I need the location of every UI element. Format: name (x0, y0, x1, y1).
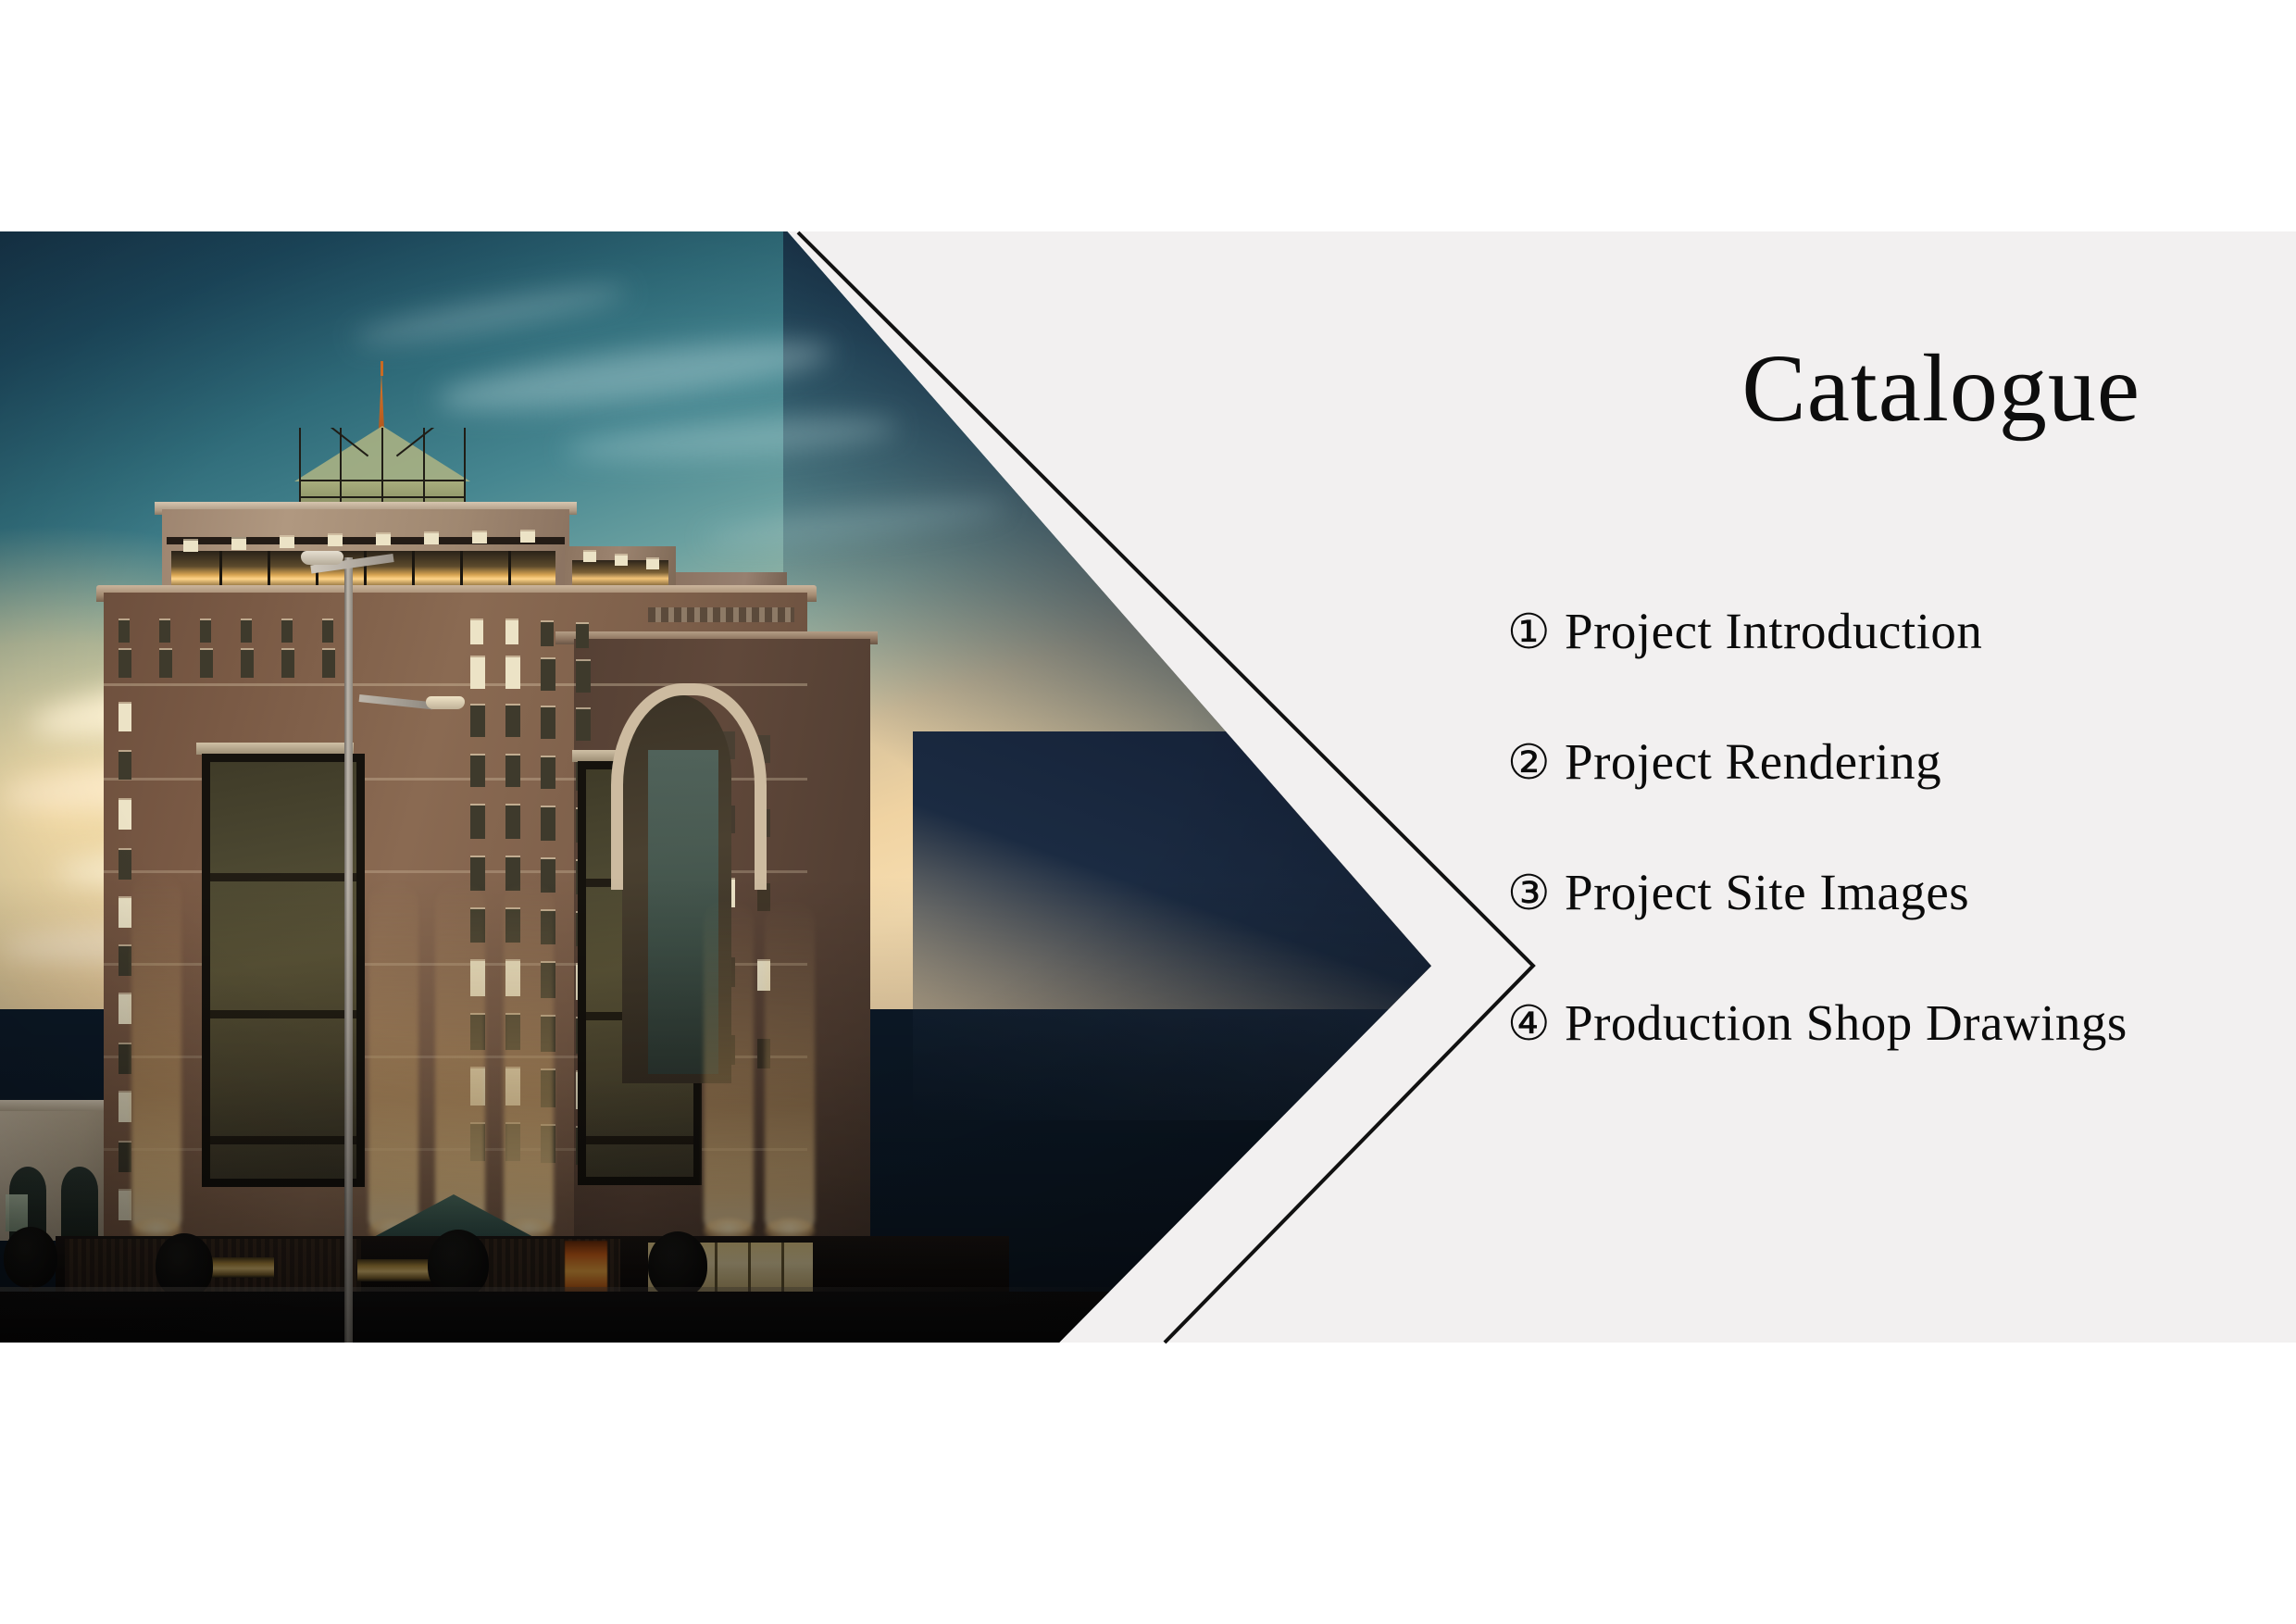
item-number-3: ③ (1507, 866, 1565, 921)
curtain-wall-bay-left (202, 754, 365, 1187)
slide-canvas: GRAND OTEL (0, 0, 2296, 1624)
catalogue-item-3[interactable]: ③ Project Site Images (1507, 863, 2276, 993)
item-label-2: Project Rendering (1565, 732, 1941, 791)
street-lamp-head-secondary (426, 696, 465, 709)
entrance-arch-ring (611, 683, 767, 890)
item-number-1: ① (1507, 605, 1565, 660)
upper-level-band (167, 537, 565, 544)
adjacent-arch (61, 1167, 98, 1241)
item-number-4: ④ (1507, 996, 1565, 1052)
catalogue-item-2[interactable]: ② Project Rendering (1507, 732, 2276, 863)
item-label-1: Project Introduction (1565, 602, 1982, 660)
street-lamp-head (301, 551, 343, 565)
catalogue-list: ① Project Introduction ② Project Renderi… (1507, 602, 2276, 1124)
catalogue-item-1[interactable]: ① Project Introduction (1507, 602, 2276, 732)
dome-mullion-grid (299, 428, 466, 511)
street-tree (4, 1227, 57, 1288)
item-label-4: Production Shop Drawings (1565, 993, 2128, 1052)
item-number-2: ② (1507, 735, 1565, 791)
adjacent-lit-window (6, 1194, 28, 1231)
spire-tip (381, 361, 383, 376)
catalogue-item-4[interactable]: ④ Production Shop Drawings (1507, 993, 2276, 1124)
page-title: Catalogue (1741, 341, 2140, 437)
item-label-3: Project Site Images (1565, 863, 1969, 921)
street-lamp-pole (344, 557, 353, 1343)
